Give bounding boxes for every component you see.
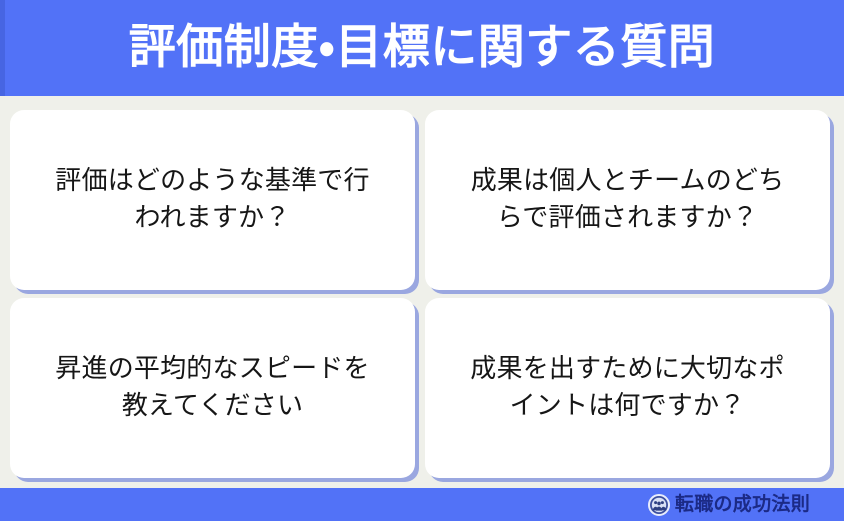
question-card[interactable]: 成果は個人とチームのどちらで評価されますか？	[425, 110, 830, 290]
header-left-accent-bar	[0, 0, 5, 96]
brand-name-label: 転職の成功法則	[675, 495, 810, 514]
footer-bar: 転職の成功法則	[0, 488, 844, 521]
people-circle-logo-icon	[648, 494, 670, 516]
question-card[interactable]: 評価はどのような基準で行われますか？	[10, 110, 415, 290]
brand-lockup: 転職の成功法則	[648, 494, 810, 516]
header-banner: 評価制度・目標に関する質問	[0, 0, 844, 96]
question-card-text: 昇進の平均的なスピードを教えてください	[44, 351, 381, 425]
slide-root: 評価制度・目標に関する質問 評価はどのような基準で行われますか？ 成果は個人とチ…	[0, 0, 844, 521]
question-card-text: 成果を出すために大切なポイントは何ですか？	[459, 351, 796, 425]
question-card-text: 評価はどのような基準で行われますか？	[44, 163, 381, 237]
question-card[interactable]: 成果を出すために大切なポイントは何ですか？	[425, 298, 830, 478]
question-card-text: 成果は個人とチームのどちらで評価されますか？	[459, 163, 796, 237]
page-title: 評価制度・目標に関する質問	[129, 24, 715, 71]
question-card[interactable]: 昇進の平均的なスピードを教えてください	[10, 298, 415, 478]
question-card-grid: 評価はどのような基準で行われますか？ 成果は個人とチームのどちらで評価されますか…	[0, 96, 844, 488]
